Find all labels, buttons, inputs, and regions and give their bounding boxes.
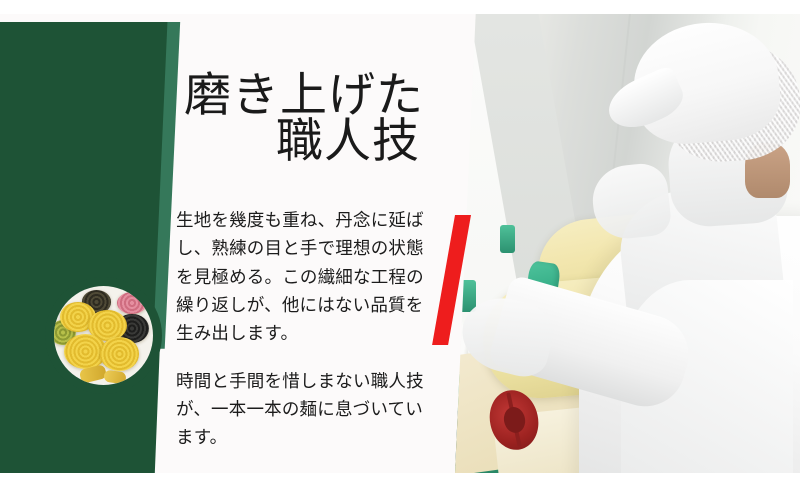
pasta-nest-pink (117, 292, 147, 314)
body-paragraph-2: 時間と手間を惜しまない職人技が、一本一本の麺に息づいています。 (176, 367, 424, 452)
machine-knob-upper (500, 225, 516, 253)
valve-spoke (506, 393, 521, 447)
frame-strip-bottom (0, 473, 800, 495)
body-paragraph-1: 生地を幾度も重ね、丹念に延ばし、熟練の目と手で理想の状態を見極める。この繊細な工… (176, 206, 424, 348)
frame-strip-top (0, 0, 800, 14)
page-title: 磨き上げた 職人技 (182, 70, 462, 166)
noodle-factory-worker-photo (455, 14, 800, 473)
pasta-nest-yellow-4 (100, 337, 140, 371)
page-title-line-1: 磨き上げた (182, 70, 462, 120)
photo-content (455, 14, 800, 473)
page-title-line-2: 職人技 (182, 116, 462, 166)
pasta-circle-badge (45, 277, 162, 394)
green-angled-block (0, 22, 180, 473)
pasta-nests-photo (54, 286, 153, 385)
body-copy: 生地を幾度も重ね、丹念に延ばし、熟練の目と手で理想の状態を見極める。この繊細な工… (176, 206, 424, 452)
slide-canvas: 磨き上げた 職人技 生地を幾度も重ね、丹念に延ばし、熟練の目と手で理想の状態を見… (0, 0, 800, 495)
penne-piece-2 (103, 370, 126, 385)
